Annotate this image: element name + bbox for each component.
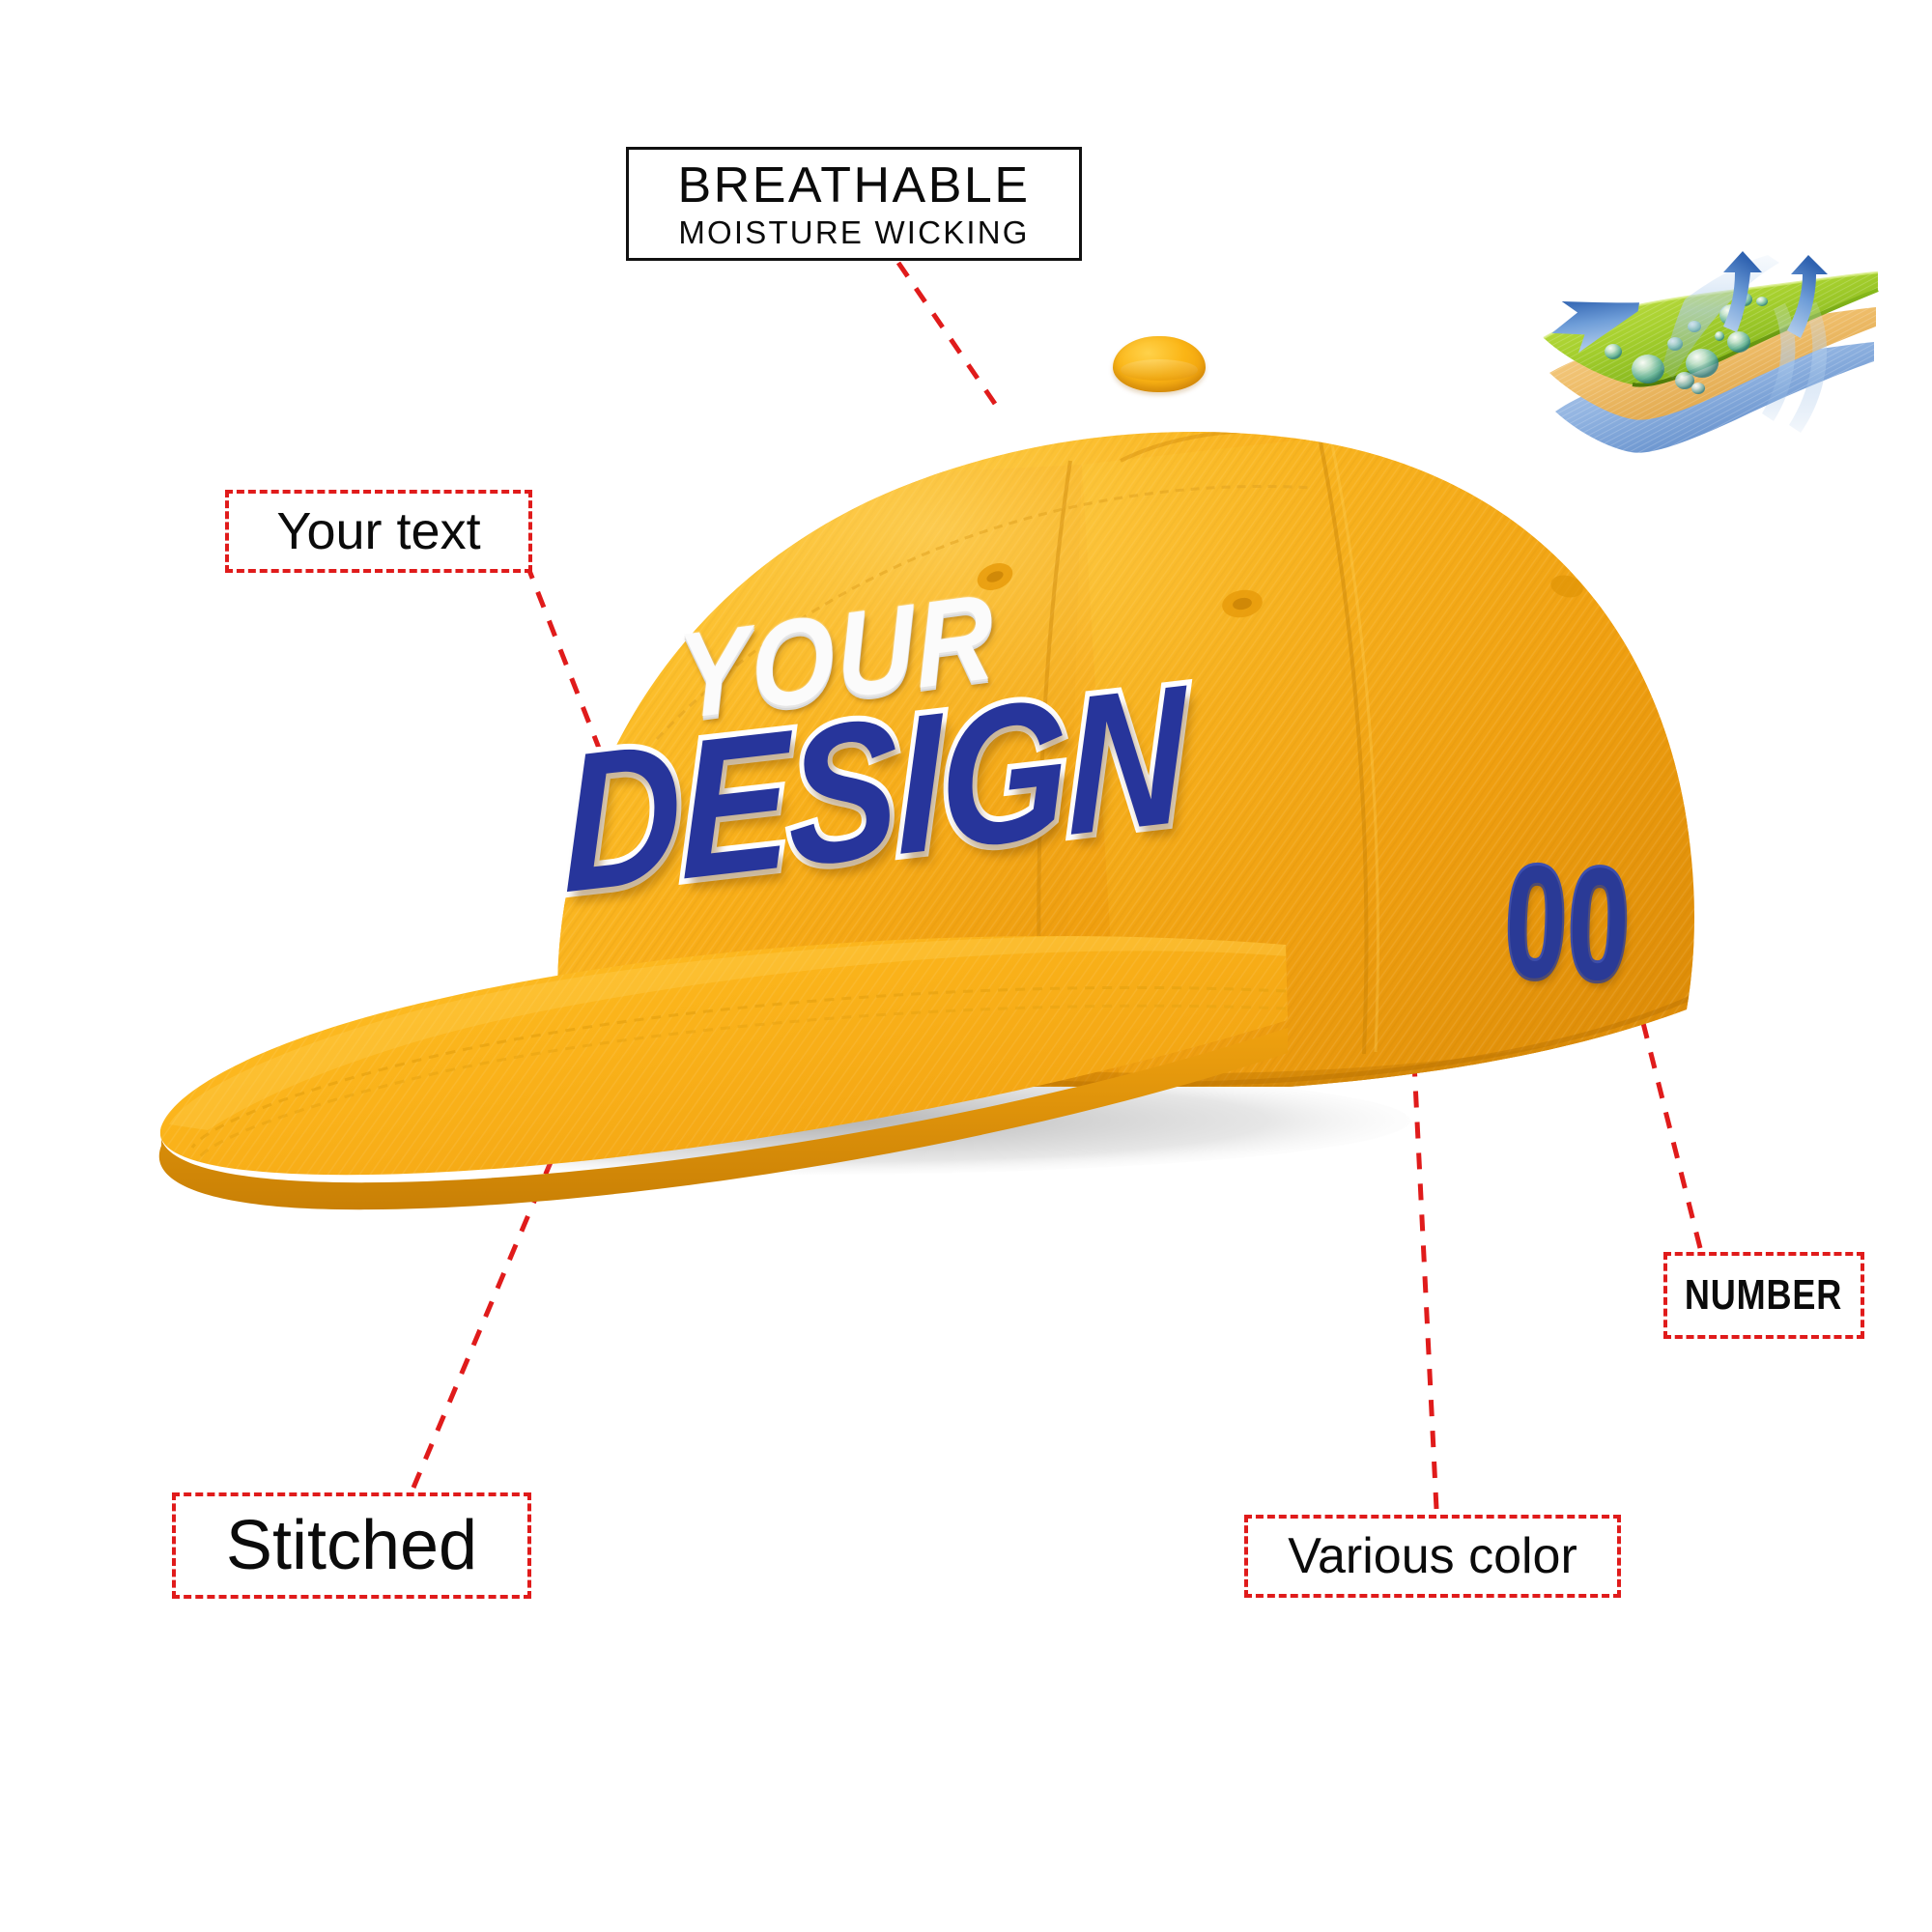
leader-various-color: [1412, 1024, 1436, 1509]
crown-button-seam: [1121, 359, 1198, 381]
callout-various-color-label: Various color: [1288, 1531, 1577, 1581]
callout-breathable-title: BREATHABLE: [677, 160, 1030, 211]
callout-stitched: Stitched: [172, 1492, 531, 1599]
callout-breathable-subtitle: MOISTURE WICKING: [678, 216, 1029, 248]
callout-your-text: Your text: [225, 490, 532, 573]
callout-breathable: BREATHABLE MOISTURE WICKING: [626, 147, 1082, 261]
callout-number-label: NUMBER: [1685, 1274, 1842, 1317]
callout-stitched-label: Stitched: [226, 1511, 477, 1580]
callout-your-text-label: Your text: [276, 505, 480, 557]
embroidery-side-number: 00: [1502, 830, 1634, 1016]
product-annotation-canvas: YOUR DESIGN 00: [0, 0, 1932, 1932]
cap-brim: [150, 927, 1290, 1217]
callout-number: NUMBER: [1663, 1252, 1864, 1339]
callout-various-color: Various color: [1244, 1515, 1621, 1598]
